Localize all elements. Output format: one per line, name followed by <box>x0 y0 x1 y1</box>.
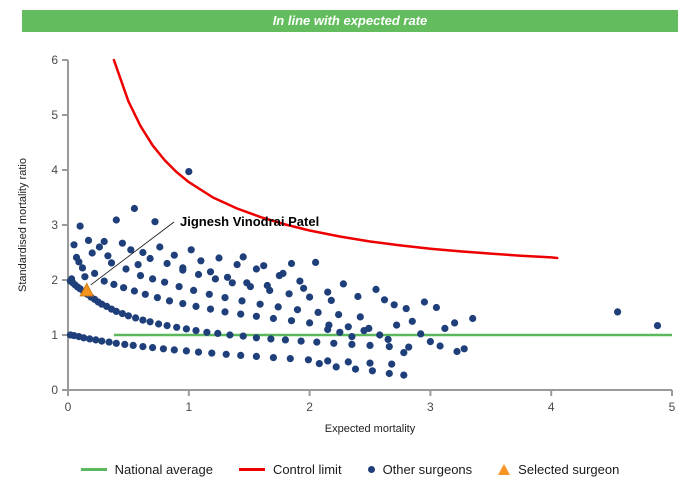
data-point <box>207 306 214 313</box>
data-point <box>206 291 213 298</box>
data-point <box>300 285 307 292</box>
data-point <box>324 289 331 296</box>
data-point <box>166 297 173 304</box>
data-point <box>237 352 244 359</box>
data-point <box>324 326 331 333</box>
data-point <box>298 338 305 345</box>
data-point <box>345 358 352 365</box>
data-point <box>654 322 661 329</box>
reference-lines <box>114 60 672 335</box>
data-point <box>288 317 295 324</box>
data-point <box>369 367 376 374</box>
legend-label: Control limit <box>273 462 342 477</box>
data-point <box>101 278 108 285</box>
data-point <box>85 237 92 244</box>
data-point <box>405 344 412 351</box>
y-tick-label: 5 <box>51 108 58 122</box>
data-point <box>75 258 82 265</box>
data-point <box>386 370 393 377</box>
data-point <box>330 340 337 347</box>
data-point <box>135 261 142 268</box>
legend-dot-swatch <box>368 466 375 473</box>
data-point <box>340 280 347 287</box>
legend-label: Other surgeons <box>383 462 473 477</box>
x-tick-label: 4 <box>548 400 555 414</box>
data-point <box>113 216 120 223</box>
axes: 0123456012345Expected mortalityStandardi… <box>17 53 676 435</box>
data-point <box>294 306 301 313</box>
data-point <box>403 305 410 312</box>
legend-control-limit[interactable]: Control limit <box>239 462 342 477</box>
data-point <box>335 311 342 318</box>
data-point <box>433 304 440 311</box>
data-point <box>360 327 367 334</box>
data-point <box>183 325 190 332</box>
data-point <box>221 308 228 315</box>
data-point <box>183 347 190 354</box>
data-point <box>77 223 84 230</box>
data-point <box>240 253 247 260</box>
y-tick-label: 6 <box>51 53 58 67</box>
x-tick-label: 5 <box>669 400 676 414</box>
data-point <box>305 356 312 363</box>
legend-line-swatch <box>239 468 265 471</box>
data-point <box>400 372 407 379</box>
data-point <box>131 287 138 294</box>
data-point <box>203 329 210 336</box>
data-point <box>437 342 444 349</box>
data-point <box>417 330 424 337</box>
data-point <box>234 261 241 268</box>
data-point <box>381 296 388 303</box>
data-point <box>119 240 126 247</box>
data-point <box>385 336 392 343</box>
data-point <box>223 351 230 358</box>
data-point <box>164 260 171 267</box>
data-point <box>137 272 144 279</box>
data-point <box>427 338 434 345</box>
data-point <box>260 262 267 269</box>
data-point <box>267 335 274 342</box>
x-axis-title: Expected mortality <box>325 423 416 435</box>
data-point <box>388 361 395 368</box>
data-point <box>270 315 277 322</box>
data-point <box>132 314 139 321</box>
data-point <box>306 319 313 326</box>
data-point <box>333 363 340 370</box>
y-tick-label: 4 <box>51 163 58 177</box>
data-point <box>108 259 115 266</box>
data-point <box>139 249 146 256</box>
data-point <box>151 218 158 225</box>
data-point <box>171 346 178 353</box>
data-point <box>282 336 289 343</box>
data-point <box>393 322 400 329</box>
data-point <box>142 291 149 298</box>
data-point <box>79 264 86 271</box>
data-point <box>352 366 359 373</box>
data-point <box>197 257 204 264</box>
data-point <box>306 294 313 301</box>
data-point <box>212 275 219 282</box>
data-point <box>391 301 398 308</box>
data-point <box>179 267 186 274</box>
data-point <box>357 313 364 320</box>
data-point <box>149 275 156 282</box>
data-point <box>224 274 231 281</box>
data-point <box>253 265 260 272</box>
data-point <box>179 300 186 307</box>
data-point <box>253 334 260 341</box>
data-point <box>121 341 128 348</box>
data-point <box>164 322 171 329</box>
data-point <box>240 333 247 340</box>
data-point <box>173 324 180 331</box>
data-point <box>229 279 236 286</box>
annotation-leader-line <box>91 222 174 285</box>
y-tick-label: 1 <box>51 328 58 342</box>
data-point <box>195 271 202 278</box>
data-point <box>469 315 476 322</box>
legend-triangle-swatch <box>498 464 510 475</box>
data-point <box>279 270 286 277</box>
data-point <box>207 268 214 275</box>
data-point <box>110 281 117 288</box>
data-point <box>287 355 294 362</box>
data-point <box>192 303 199 310</box>
data-point <box>122 265 129 272</box>
data-point <box>171 252 178 259</box>
data-point <box>354 293 361 300</box>
data-point <box>275 303 282 310</box>
data-point <box>270 354 277 361</box>
data-point <box>106 339 113 346</box>
data-point <box>192 327 199 334</box>
chart-legend: National averageControl limitOther surge… <box>0 452 700 486</box>
data-point <box>348 341 355 348</box>
data-point <box>238 297 245 304</box>
data-point <box>156 243 163 250</box>
chart-page: In line with expected rate 0123456012345… <box>0 0 700 500</box>
data-point <box>91 270 98 277</box>
legend-label: Selected surgeon <box>518 462 619 477</box>
data-point <box>345 323 352 330</box>
data-point <box>154 294 161 301</box>
data-point <box>421 298 428 305</box>
data-point <box>188 246 195 253</box>
data-point <box>104 252 111 259</box>
data-point <box>348 333 355 340</box>
data-point <box>190 287 197 294</box>
data-point <box>92 336 99 343</box>
data-point <box>441 325 448 332</box>
data-point <box>315 309 322 316</box>
data-point <box>81 273 88 280</box>
legend-selected-surgeon[interactable]: Selected surgeon <box>498 462 619 477</box>
data-point <box>386 343 393 350</box>
x-tick-label: 0 <box>65 400 72 414</box>
data-point <box>161 279 168 286</box>
data-point <box>155 320 162 327</box>
data-point <box>147 318 154 325</box>
data-point <box>296 278 303 285</box>
data-point <box>286 290 293 297</box>
data-point <box>139 343 146 350</box>
y-tick-label: 0 <box>51 383 58 397</box>
data-point <box>185 168 192 175</box>
x-tick-label: 3 <box>427 400 434 414</box>
data-point <box>139 317 146 324</box>
data-point <box>70 241 77 248</box>
data-point <box>131 205 138 212</box>
data-point <box>313 339 320 346</box>
data-point <box>226 331 233 338</box>
data-point <box>96 243 103 250</box>
data-point <box>208 350 215 357</box>
data-point <box>221 294 228 301</box>
data-point <box>130 342 137 349</box>
data-point <box>113 340 120 347</box>
data-point <box>453 348 460 355</box>
data-point <box>215 254 222 261</box>
y-tick-label: 2 <box>51 273 58 287</box>
data-point <box>461 345 468 352</box>
data-point <box>253 353 260 360</box>
data-point <box>247 283 254 290</box>
data-point <box>125 312 132 319</box>
data-point <box>147 255 154 262</box>
y-axis-title: Standardised mortality ratio <box>17 158 29 292</box>
data-point <box>376 331 383 338</box>
data-point <box>366 342 373 349</box>
data-point <box>409 318 416 325</box>
data-point <box>195 349 202 356</box>
data-point <box>89 249 96 256</box>
data-point <box>176 283 183 290</box>
data-point <box>316 360 323 367</box>
data-point <box>372 286 379 293</box>
annotation-label: Jignesh Vinodrai Patel <box>180 214 319 229</box>
legend-line-swatch <box>81 468 107 471</box>
data-point <box>266 287 273 294</box>
data-point <box>614 308 621 315</box>
data-point <box>312 259 319 266</box>
y-tick-label: 3 <box>51 218 58 232</box>
x-tick-label: 1 <box>185 400 192 414</box>
scatter-points <box>67 168 661 379</box>
data-point <box>120 284 127 291</box>
data-point <box>328 297 335 304</box>
data-point <box>400 349 407 356</box>
data-point <box>253 313 260 320</box>
data-point <box>336 329 343 336</box>
data-point <box>160 345 167 352</box>
data-point <box>366 360 373 367</box>
data-point <box>80 334 87 341</box>
legend-label: National average <box>115 462 213 477</box>
data-point <box>257 301 264 308</box>
data-point <box>237 311 244 318</box>
data-point <box>98 338 105 345</box>
x-tick-label: 2 <box>306 400 313 414</box>
funnel-plot: 0123456012345Expected mortalityStandardi… <box>0 0 700 452</box>
data-point <box>149 344 156 351</box>
data-point <box>86 335 93 342</box>
data-point <box>101 238 108 245</box>
data-point <box>288 260 295 267</box>
legend-other-surgeons[interactable]: Other surgeons <box>368 462 473 477</box>
data-point <box>451 319 458 326</box>
data-point <box>324 357 331 364</box>
data-point <box>214 330 221 337</box>
legend-national-average[interactable]: National average <box>81 462 213 477</box>
